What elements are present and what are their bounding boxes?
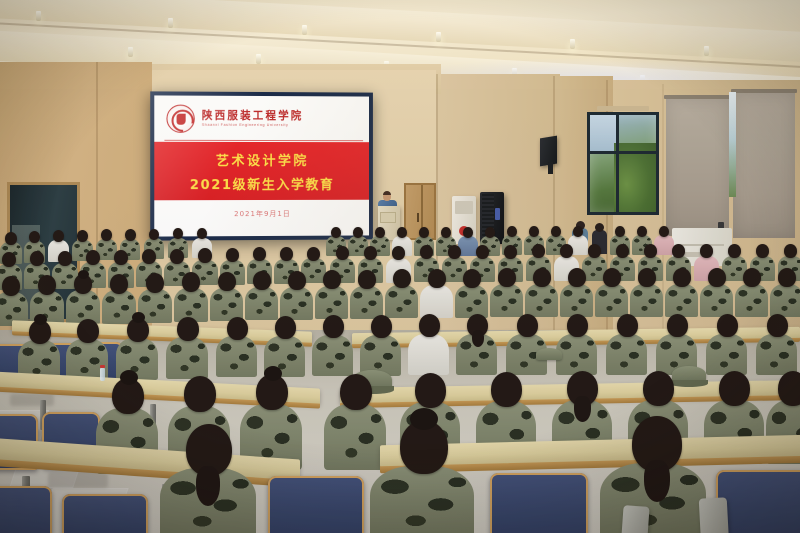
slide-title-line2: 2021级新生入学教育 bbox=[190, 173, 335, 192]
ceiling-spotlight bbox=[36, 11, 41, 21]
audience bbox=[0, 218, 800, 533]
folding-seat-pan[interactable] bbox=[699, 497, 730, 533]
university-logo-text: 陕西服装工程学院 Shaanxi Fashion Engineering Uni… bbox=[202, 110, 304, 127]
ceiling-spotlight bbox=[256, 54, 261, 64]
slide-title-banner: 艺术设计学院 2021级新生入学教育 bbox=[154, 142, 369, 200]
university-name-cn: 陕西服装工程学院 bbox=[202, 110, 304, 121]
ceiling-spotlight bbox=[128, 47, 133, 57]
lecture-hall-photo: 陕西服装工程学院 Shaanxi Fashion Engineering Uni… bbox=[0, 0, 800, 533]
lecture-seat[interactable] bbox=[0, 486, 52, 533]
speaker-bracket bbox=[548, 162, 553, 174]
window-mullion-vertical bbox=[616, 115, 619, 212]
ceiling-spotlight bbox=[302, 25, 307, 35]
ceiling-spotlight bbox=[436, 32, 441, 42]
water-bottle[interactable] bbox=[100, 368, 105, 381]
roller-blind[interactable] bbox=[666, 98, 729, 236]
slide-header: 陕西服装工程学院 Shaanxi Fashion Engineering Uni… bbox=[154, 95, 369, 142]
lecture-seat[interactable] bbox=[62, 494, 148, 533]
projected-slide: 陕西服装工程学院 Shaanxi Fashion Engineering Uni… bbox=[154, 95, 369, 236]
ceiling-spotlight bbox=[168, 18, 173, 28]
roller-blind[interactable] bbox=[733, 92, 795, 238]
window-header bbox=[597, 106, 649, 111]
exterior-window bbox=[587, 112, 659, 215]
university-name-en: Shaanxi Fashion Engineering University bbox=[202, 124, 304, 128]
camouflage-cap bbox=[536, 348, 562, 360]
slide-title-line1: 艺术设计学院 bbox=[216, 149, 309, 168]
presenter-hair bbox=[383, 191, 391, 195]
lecture-seat[interactable] bbox=[268, 476, 364, 533]
blind-light-gap bbox=[729, 92, 736, 197]
blind-valance bbox=[664, 95, 731, 99]
blind-valance bbox=[731, 89, 797, 93]
ceiling-spotlight bbox=[704, 46, 709, 56]
window-mullion-horizontal bbox=[590, 151, 656, 154]
ceiling-spotlight bbox=[570, 39, 575, 49]
university-logo-icon bbox=[166, 105, 194, 133]
window-sky bbox=[590, 115, 616, 151]
lecture-seat[interactable] bbox=[490, 473, 588, 533]
lecture-seat[interactable] bbox=[716, 470, 800, 533]
ac-vent bbox=[455, 201, 473, 214]
folding-seat-pan[interactable] bbox=[620, 505, 649, 533]
